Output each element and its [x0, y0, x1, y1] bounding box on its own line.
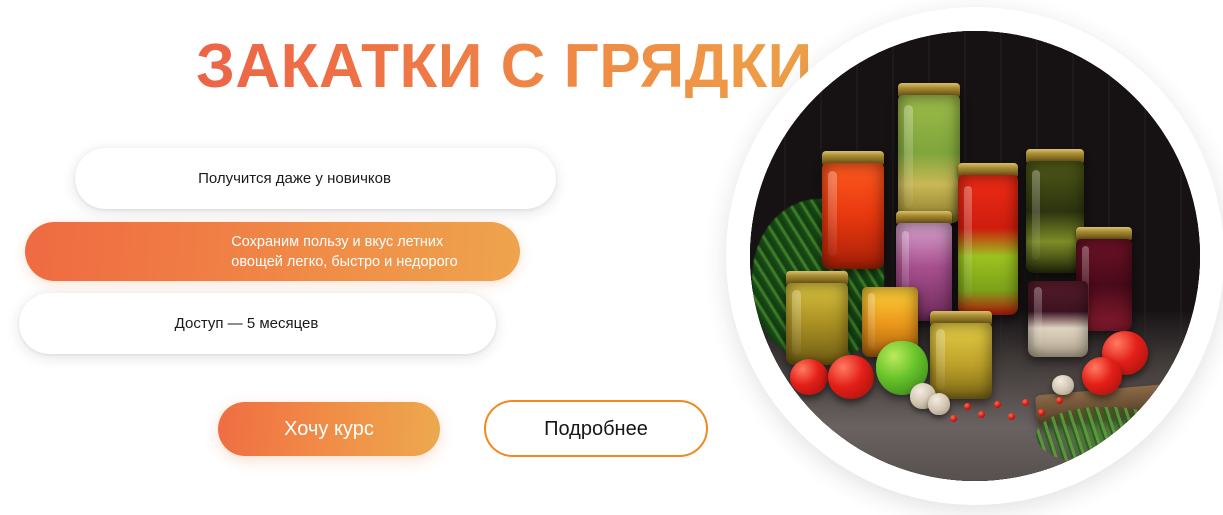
feature-pill-beginners[interactable]: Получится даже у новичков: [75, 148, 556, 209]
dill-sprig: [1036, 407, 1164, 465]
peppercorn: [964, 403, 971, 410]
hero-photo-ring: [726, 7, 1223, 505]
peppercorn: [978, 411, 985, 418]
garlic-bulb: [1052, 375, 1074, 395]
feature-pill-label: Сохраним пользу и вкус летних овощей лег…: [231, 232, 457, 272]
garlic-bulb: [928, 393, 950, 415]
tomato: [828, 355, 874, 399]
page-title: ЗАКАТКИ С ГРЯДКИ: [196, 36, 813, 98]
jar-corn: [786, 283, 848, 365]
feature-pill-benefit[interactable]: Сохраним пользу и вкус летних овощей лег…: [25, 222, 520, 281]
banner-content-column: ЗАКАТКИ С ГРЯДКИ Получится даже у новичк…: [0, 0, 740, 515]
peppercorn: [1008, 413, 1015, 420]
feature-pill-access[interactable]: Доступ — 5 месяцев: [19, 293, 496, 354]
tomato: [790, 359, 828, 395]
peppercorn: [1022, 399, 1029, 406]
hero-photo: [750, 31, 1200, 481]
peppercorn: [994, 401, 1001, 408]
promo-banner: ЗАКАТКИ С ГРЯДКИ Получится даже у новичк…: [0, 0, 1223, 515]
peppercorn: [1056, 397, 1063, 404]
feature-pill-label: Получится даже у новичков: [198, 169, 391, 189]
peppercorn: [1038, 409, 1045, 416]
jar-mushrooms: [1028, 281, 1088, 357]
jar-relish: [930, 323, 992, 399]
feature-pill-label: Доступ — 5 месяцев: [175, 314, 319, 334]
jar-green-beans: [898, 95, 960, 223]
jar-red-peppers: [822, 163, 884, 269]
peppercorn: [950, 415, 957, 422]
tomato: [1082, 357, 1122, 395]
more-details-button[interactable]: Подробнее: [484, 400, 708, 457]
want-course-button[interactable]: Хочу курс: [218, 402, 440, 456]
jar-tomato-pepper: [958, 175, 1018, 315]
